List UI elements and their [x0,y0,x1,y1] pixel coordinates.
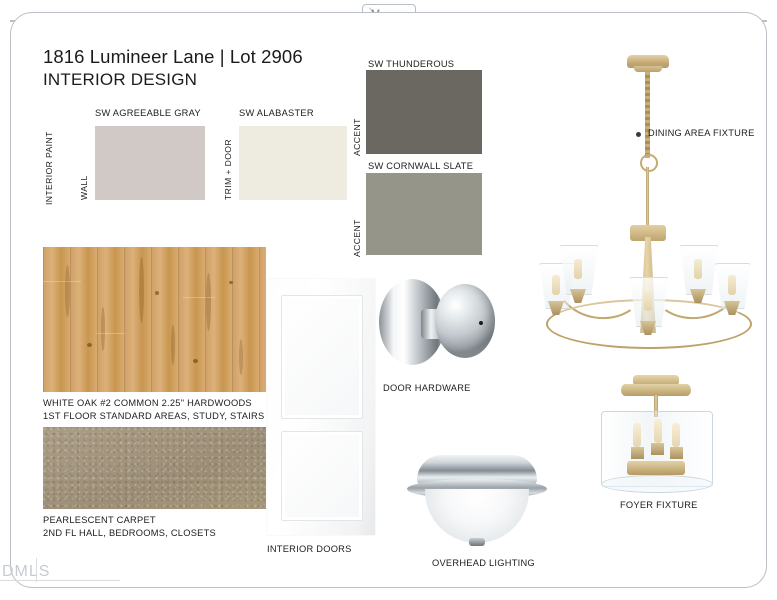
hardwood-caption-line2: 1ST FLOOR STANDARD AREAS, STUDY, STAIRS [43,410,264,423]
paint-swatch-wall [95,126,205,200]
hardwood-floor-sample [43,247,266,392]
foyer-bulb-2 [654,419,662,443]
interior-door-image [267,279,375,535]
hardwood-caption-line1: WHITE OAK #2 COMMON 2.25" HARDWOODS [43,397,264,410]
paint-role-wall: WALL [79,144,89,200]
watermark-tick [36,558,37,582]
watermark: DMLS [2,563,50,581]
overhead-light-image [403,453,551,548]
page-title: 1816 Lumineer Lane | Lot 2906 [43,46,303,68]
paint-swatch-accent1 [366,70,482,154]
paint-role-trim: TRIM + DOOR [223,128,233,200]
dining-fixture-pointer [636,132,641,137]
door-hardware-image [379,265,497,377]
chandelier-bulb-5 [728,275,736,295]
carpet-caption-line1: PEARLESCENT CARPET [43,514,216,527]
hardwood-caption: WHITE OAK #2 COMMON 2.25" HARDWOODS 1ST … [43,397,264,422]
door-knob-pinhole [479,321,483,325]
foyer-socket-2 [651,443,664,455]
chandelier-bulb-4 [694,259,702,279]
chandelier-chain [645,72,650,158]
foyer-socket-3 [670,447,683,459]
flushmount-glass-shade [425,489,529,543]
design-board: 1816 Lumineer Lane | Lot 2906 INTERIOR D… [10,12,767,588]
chandelier-bulb-3 [644,291,652,311]
paint-name-wall: SW AGREEABLE GRAY [95,108,201,118]
chandelier-bulb-1 [552,275,560,295]
paint-name-trim: SW ALABASTER [239,108,314,118]
paint-role-accent1: ACCENT [352,108,362,156]
foyer-socket-1 [631,447,644,459]
foyer-bulb-1 [633,423,641,447]
chandelier-loop [640,154,658,172]
foyer-fixture-image [591,375,721,495]
flushmount-finial [469,538,485,546]
paint-name-accent1: SW THUNDEROUS [368,59,454,69]
paint-role-accent2: ACCENT [352,211,362,257]
paint-name-accent2: SW CORNWALL SLATE [368,161,473,171]
dining-fixture-label: DINING AREA FIXTURE [648,128,755,138]
carpet-sample [43,427,266,509]
door-hardware-label: DOOR HARDWARE [383,383,471,393]
foyer-bulb-3 [672,423,680,447]
chandelier-bulb-2 [574,259,582,279]
carpet-caption: PEARLESCENT CARPET 2ND FL HALL, BEDROOMS… [43,514,216,539]
overhead-lighting-label: OVERHEAD LIGHTING [432,558,535,568]
door-panel-top [281,295,363,419]
chandelier-stem [646,167,649,233]
foyer-base-plate [627,461,685,475]
watermark-rule [0,580,120,581]
interior-doors-label: INTERIOR DOORS [267,544,352,554]
section-label-interior-paint: INTERIOR PAINT [44,123,54,205]
door-knob [435,284,495,358]
paint-swatch-accent2 [366,173,482,255]
dining-chandelier-image [530,49,760,349]
page-subtitle: INTERIOR DESIGN [43,70,197,90]
foyer-fixture-label: FOYER FIXTURE [620,500,698,510]
paint-swatch-trim [239,126,347,200]
door-panel-bottom [281,431,363,521]
carpet-caption-line2: 2ND FL HALL, BEDROOMS, CLOSETS [43,527,216,540]
